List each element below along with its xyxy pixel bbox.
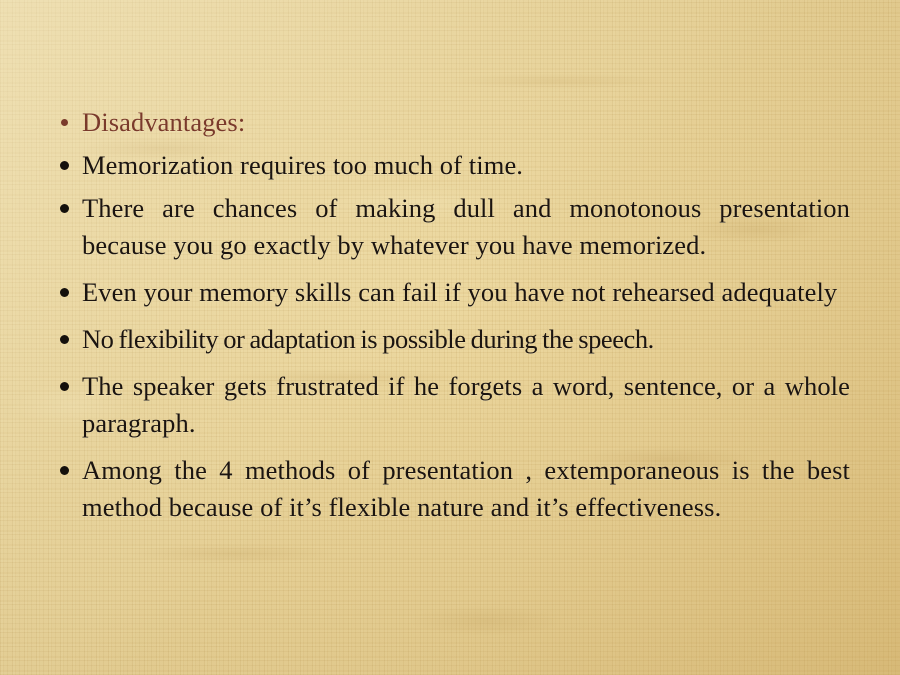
slide-body-text-frame: Disadvantages: Memorization requires too… xyxy=(55,104,850,534)
round-bullet-icon xyxy=(60,204,69,213)
bullet-item-speaker-frustrated: The speaker gets frustrated if he forget… xyxy=(55,368,850,442)
bullet-text: Disadvantages: xyxy=(82,107,245,137)
presentation-slide: Disadvantages: Memorization requires too… xyxy=(0,0,900,675)
bullet-text: Even your memory skills can fail if you … xyxy=(82,277,837,307)
round-bullet-icon xyxy=(61,119,68,126)
bullet-text: No flexibility or adaptation is possible… xyxy=(82,324,654,354)
bullet-item-no-flexibility: No flexibility or adaptation is possible… xyxy=(55,321,850,358)
bullet-item-memory-skills-fail: Even your memory skills can fail if you … xyxy=(55,274,850,311)
bullet-item-extemporaneous-best: Among the 4 methods of presentation , ex… xyxy=(55,452,850,526)
bullet-text: Among the 4 methods of presentation , ex… xyxy=(82,455,850,522)
bullet-item-memorization-time: Memorization requires too much of time. xyxy=(55,147,850,184)
round-bullet-icon xyxy=(60,466,69,475)
bullet-text: Memorization requires too much of time. xyxy=(82,150,523,180)
round-bullet-icon xyxy=(60,288,69,297)
bullet-item-dull-monotonous: There are chances of making dull and mon… xyxy=(55,190,850,264)
round-bullet-icon xyxy=(60,335,69,344)
round-bullet-icon xyxy=(60,161,69,170)
round-bullet-icon xyxy=(60,382,69,391)
bullet-text: There are chances of making dull and mon… xyxy=(82,193,850,260)
bullet-item-disadvantages-heading: Disadvantages: xyxy=(55,104,850,141)
bullet-text: The speaker gets frustrated if he forget… xyxy=(82,371,850,438)
